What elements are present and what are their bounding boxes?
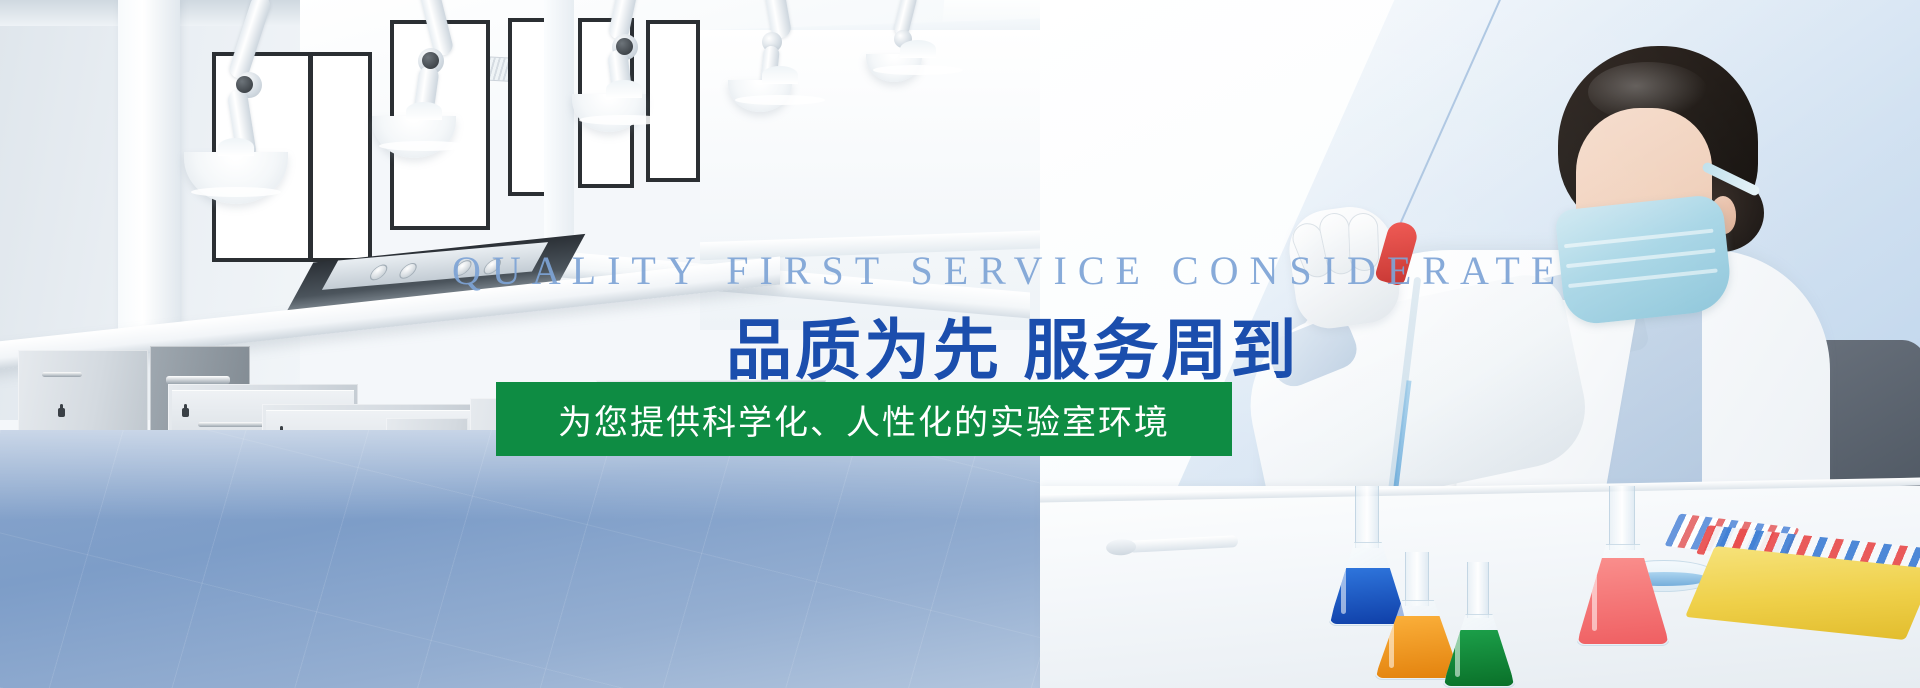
banner-headline: 品质为先 服务周到 — [726, 297, 1299, 393]
text-overlay: QUALITY FIRST SERVICE CONSIDERATE 品质为先 服… — [0, 0, 1920, 688]
banner-tagline-text: 为您提供科学化、人性化的实验室环境 — [558, 395, 1170, 444]
banner-eyebrow-text: QUALITY FIRST SERVICE CONSIDERATE — [452, 247, 1566, 294]
banner-tagline-bar: 为您提供科学化、人性化的实验室环境 — [496, 382, 1232, 456]
hero-banner: QUALITY FIRST SERVICE CONSIDERATE 品质为先 服… — [0, 0, 1920, 688]
